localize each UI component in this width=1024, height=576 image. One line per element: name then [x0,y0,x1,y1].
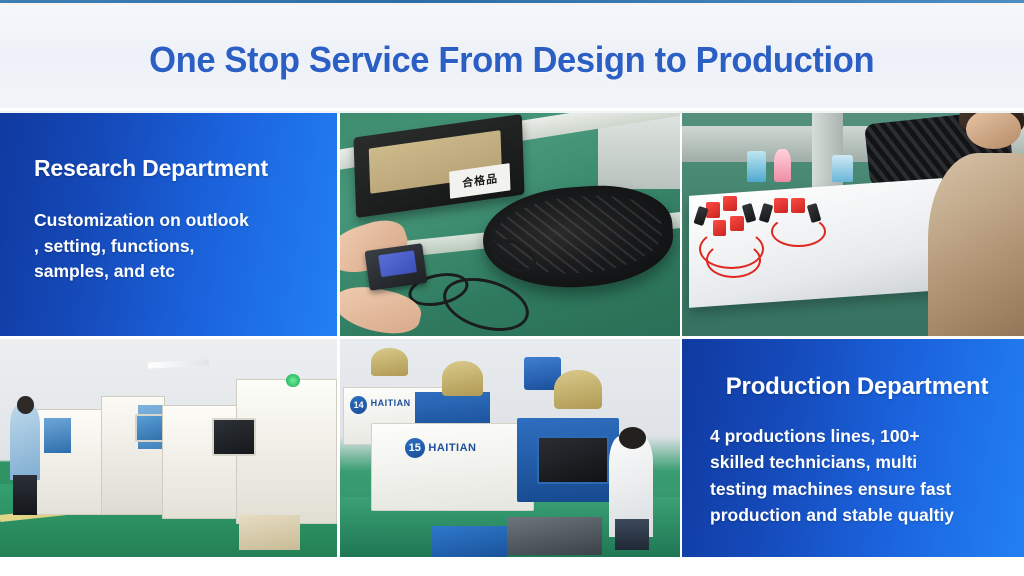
parts-tray: 合格品 [353,114,524,218]
photo-injection-molding: 14 HAITIAN 15 HAITIAN [340,339,680,559]
assembly-table-scene [682,113,1024,336]
parts-cart [507,517,602,554]
inspection-bench-scene: 合格品 [340,113,680,336]
smt-operator-body [10,405,40,480]
smt-line-scene [0,339,337,559]
machine-number-badge-14: 14 [350,396,367,414]
smt-operator-legs [13,475,37,515]
panel-production-title: Production Department [710,373,1010,401]
pink-bottle [774,149,791,182]
solvent-jar [832,155,853,182]
panel-production-line-2: skilled technicians, multi [710,449,1010,475]
smt-operator-head [17,396,34,414]
panel-research-line-2: , setting, functions, [34,234,313,260]
panel-research-body: Customization on outlook , setting, func… [34,208,313,285]
molding-machine-15-body [371,423,534,511]
header-bar: One Stop Service From Design to Producti… [0,5,1024,114]
photo-smt-line [0,339,337,559]
photo-inspection-bench: 合格品 [340,113,680,336]
panel-research-line-1: Customization on outlook [34,208,313,234]
panel-research-department[interactable]: Research Department Customization on out… [0,113,337,336]
red-cable-loop-3 [771,216,826,247]
panel-production-department[interactable]: Production Department 4 productions line… [682,339,1024,559]
panel-production-line-4: production and stable qualtiy [710,502,1010,528]
worker-body [928,153,1024,336]
slide-root: One Stop Service From Design to Producti… [0,0,1024,576]
machine-brand-label-15: HAITIAN [428,442,476,454]
panel-research-line-3: samples, and etc [34,259,313,285]
red-cable-loop-2 [706,242,761,278]
smt-machine-1-panel [44,418,71,453]
injection-molding-scene: 14 HAITIAN 15 HAITIAN [340,339,680,559]
tester-screen [378,250,417,277]
red-clamp-5 [774,198,788,214]
red-clamp-6 [791,198,805,214]
page-title: One Stop Service From Design to Producti… [149,39,874,81]
material-hopper-3 [554,370,602,410]
photo-assembly-table [682,113,1024,336]
header-underline [0,108,1024,111]
molding-safety-door [537,436,608,484]
molding-operator-head [619,427,646,449]
cardboard-box [239,515,300,550]
panel-research-title: Research Department [34,155,313,182]
worker-head [966,113,1021,149]
blue-parts-bin [432,526,507,557]
content-grid: Research Department Customization on out… [0,113,1024,559]
cable-harness-pile [480,180,677,293]
panel-production-body: 4 productions lines, 100+ skilled techni… [710,423,1010,528]
handheld-tester [365,243,428,291]
smt-operator-monitor [212,418,256,455]
ceiling-light [148,359,209,368]
panel-production-line-3: testing machines ensure fast [710,476,1010,502]
machine-number-badge-15: 15 [405,438,425,458]
machine-brand-label-14: HAITIAN [371,398,411,408]
material-hopper-1 [371,348,408,377]
red-clamp-2 [723,196,737,212]
bottom-margin [0,557,1024,576]
panel-production-line-1: 4 productions lines, 100+ [710,423,1010,449]
material-hopper-2 [442,361,483,396]
molding-operator-legs [615,519,649,550]
blue-bottle [747,151,766,182]
